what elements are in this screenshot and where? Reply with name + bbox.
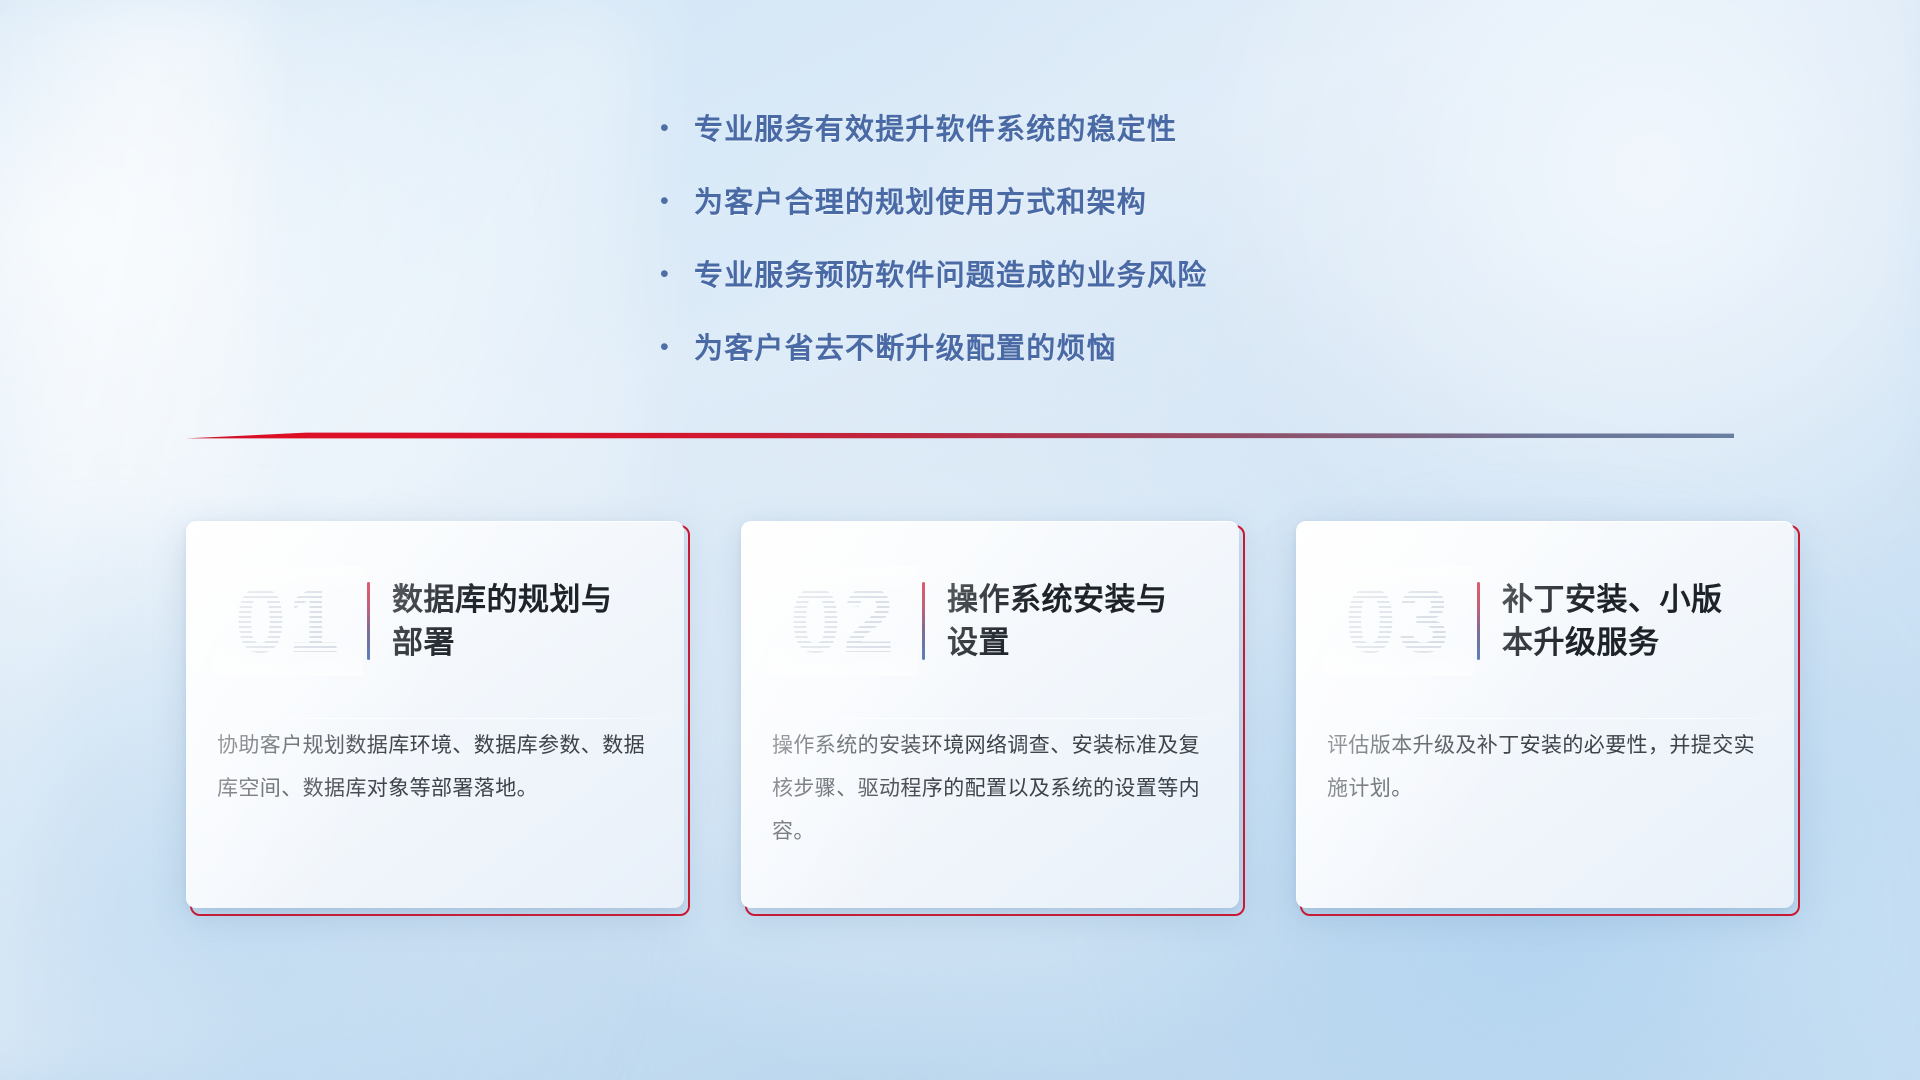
card-number-watermark: 01 xyxy=(213,566,363,676)
card-header: 03 补丁安装、小版本升级服务 xyxy=(1297,522,1794,720)
bullet-text: 专业服务有效提升软件系统的稳定性 xyxy=(694,106,1177,148)
service-card[interactable]: 01 数据库的规划与部署 协助客户规划数据库环境、数据库参数、数据库空间、数据库… xyxy=(186,521,686,912)
card-title-accent-bar xyxy=(1477,582,1480,660)
card-title: 操作系统安装与设置 xyxy=(947,578,1187,665)
bullet-dot-icon: • xyxy=(660,189,694,214)
card-surface: 03 补丁安装、小版本升级服务 评估版本升级及补丁安装的必要性，并提交实施计划。 xyxy=(1296,521,1794,908)
card-header: 02 操作系统安装与设置 xyxy=(742,522,1239,720)
bullet-text: 为客户合理的规划使用方式和架构 xyxy=(694,179,1147,221)
section-divider xyxy=(186,429,1734,445)
slide-canvas: • 专业服务有效提升软件系统的稳定性 • 为客户合理的规划使用方式和架构 • 专… xyxy=(0,0,1920,1080)
card-title: 补丁安装、小版本升级服务 xyxy=(1502,578,1742,665)
card-description: 协助客户规划数据库环境、数据库参数、数据库空间、数据库对象等部署落地。 xyxy=(187,720,684,810)
list-item: • 专业服务预防软件问题造成的业务风险 xyxy=(660,252,1460,294)
bullet-dot-icon: • xyxy=(660,116,694,141)
card-title: 数据库的规划与部署 xyxy=(392,578,632,665)
benefits-bullet-list: • 专业服务有效提升软件系统的稳定性 • 为客户合理的规划使用方式和架构 • 专… xyxy=(660,106,1460,398)
bullet-dot-icon: • xyxy=(660,335,694,360)
service-card[interactable]: 03 补丁安装、小版本升级服务 评估版本升级及补丁安装的必要性，并提交实施计划。 xyxy=(1296,521,1796,912)
bullet-dot-icon: • xyxy=(660,262,694,287)
card-title-accent-bar xyxy=(367,582,370,660)
card-number-watermark: 03 xyxy=(1323,566,1473,676)
service-card[interactable]: 02 操作系统安装与设置 操作系统的安装环境网络调查、安装标准及复核步骤、驱动程… xyxy=(741,521,1241,912)
card-number-watermark: 02 xyxy=(768,566,918,676)
list-item: • 为客户合理的规划使用方式和架构 xyxy=(660,179,1460,221)
service-card-row: 01 数据库的规划与部署 协助客户规划数据库环境、数据库参数、数据库空间、数据库… xyxy=(186,521,1796,921)
card-surface: 01 数据库的规划与部署 协助客户规划数据库环境、数据库参数、数据库空间、数据库… xyxy=(186,521,684,908)
card-description: 评估版本升级及补丁安装的必要性，并提交实施计划。 xyxy=(1297,720,1794,810)
bullet-text: 专业服务预防软件问题造成的业务风险 xyxy=(694,252,1207,294)
bullet-text: 为客户省去不断升级配置的烦恼 xyxy=(694,325,1117,367)
list-item: • 为客户省去不断升级配置的烦恼 xyxy=(660,325,1460,367)
card-description: 操作系统的安装环境网络调查、安装标准及复核步骤、驱动程序的配置以及系统的设置等内… xyxy=(742,720,1239,853)
card-surface: 02 操作系统安装与设置 操作系统的安装环境网络调查、安装标准及复核步骤、驱动程… xyxy=(741,521,1239,908)
list-item: • 专业服务有效提升软件系统的稳定性 xyxy=(660,106,1460,148)
card-title-accent-bar xyxy=(922,582,925,660)
card-header: 01 数据库的规划与部署 xyxy=(187,522,684,720)
